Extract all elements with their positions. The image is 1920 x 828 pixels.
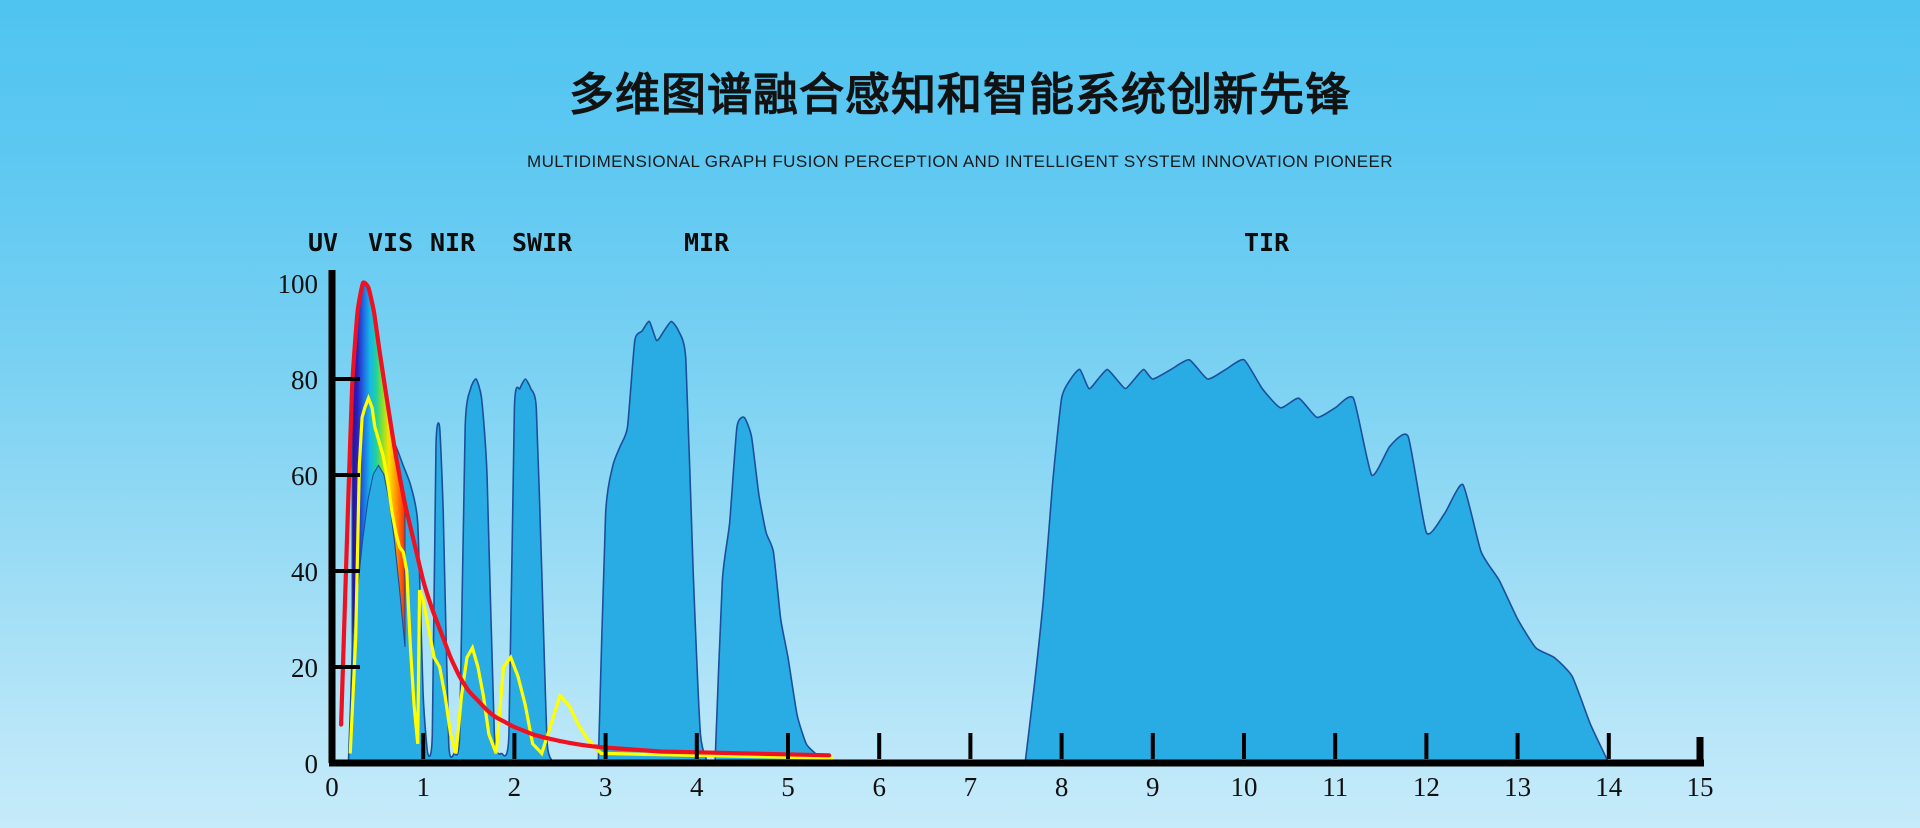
atmospheric-transmission-area <box>348 321 1608 763</box>
x-tick-label: 5 <box>781 772 795 802</box>
x-tick-label: 15 <box>1687 772 1714 802</box>
y-tick-label: 0 <box>305 749 319 779</box>
y-tick-label: 20 <box>291 653 318 683</box>
y-tick-label: 80 <box>291 365 318 395</box>
y-tick-label: 100 <box>278 269 319 299</box>
transmission-window <box>715 417 824 763</box>
x-tick-label: 2 <box>508 772 522 802</box>
transmission-window <box>598 321 707 763</box>
transmission-window <box>1025 360 1609 763</box>
x-tick-label: 11 <box>1322 772 1348 802</box>
x-tick-label: 8 <box>1055 772 1069 802</box>
y-tick-label: 40 <box>291 557 318 587</box>
x-tick-label: 7 <box>964 772 978 802</box>
x-tick-label: 14 <box>1595 772 1623 802</box>
x-tick-label: 6 <box>872 772 886 802</box>
x-tick-label: 3 <box>599 772 613 802</box>
x-tick-label: 1 <box>416 772 430 802</box>
x-tick-label: 0 <box>325 772 339 802</box>
x-tick-label: 4 <box>690 772 704 802</box>
x-tick-label: 12 <box>1413 772 1440 802</box>
x-tick-label: 10 <box>1231 772 1258 802</box>
spectrum-chart: 0204060801000123456789101112131415 <box>0 0 1920 828</box>
x-tick-label: 13 <box>1504 772 1531 802</box>
x-tick-label: 9 <box>1146 772 1160 802</box>
y-tick-label: 60 <box>291 461 318 491</box>
poster-canvas: 多维图谱融合感知和智能系统创新先锋 MULTIDIMENSIONAL GRAPH… <box>0 0 1920 828</box>
